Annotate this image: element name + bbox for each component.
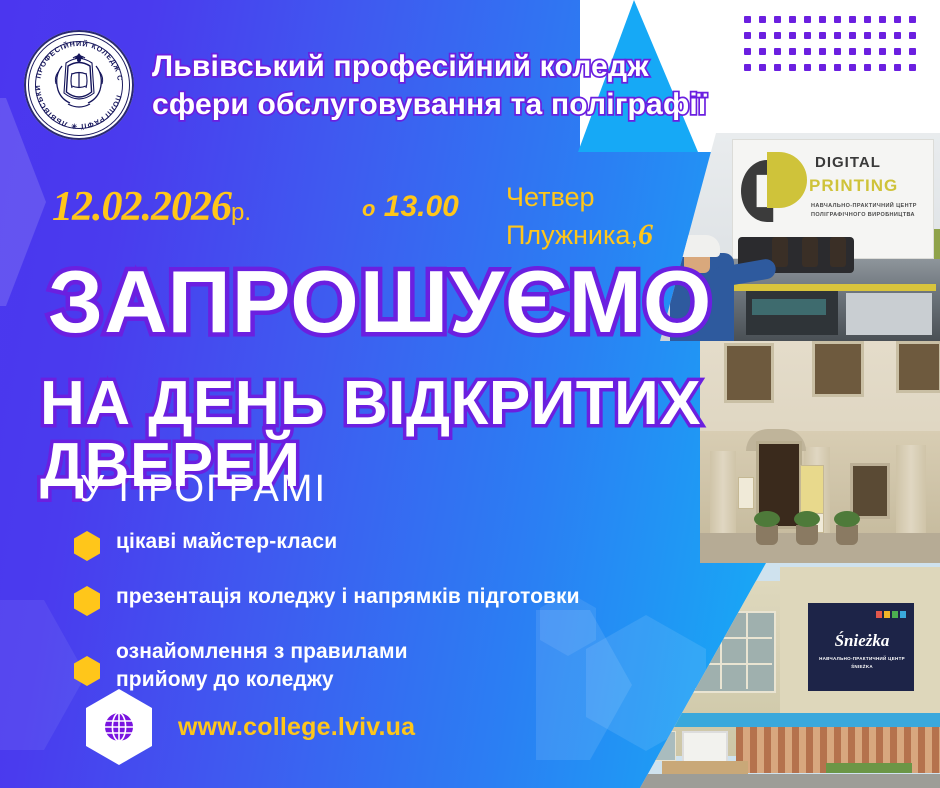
banner-line1: DIGITAL	[815, 154, 881, 171]
banner-subtitle: НАВЧАЛЬНО-ПРАКТИЧНИЙ ЦЕНТР ПОЛІГРАФІЧНОГ…	[811, 202, 929, 221]
college-crest-icon: ПРОФЕСІЙНИЙ КОЛЕДЖ СФЕРИ ОБСЛУГОВУВАННЯ …	[24, 30, 134, 140]
event-place: Четвер Плужника,6	[506, 178, 653, 255]
hexagon-bullet-icon	[74, 531, 100, 561]
program-list: цікаві майстер-класи презентація коледжу…	[74, 528, 704, 693]
banner-line2: PRINTING	[809, 176, 898, 196]
sign-brand-name: Śnieżka	[816, 631, 908, 651]
globe-icon	[86, 689, 152, 765]
event-address-street: Плужника,	[506, 220, 638, 250]
event-date-suffix: р.	[231, 199, 251, 226]
headline-primary: ЗАПРОШУЄМО	[48, 258, 712, 346]
hexagon-bullet-icon	[74, 656, 100, 686]
event-address-number: 6	[638, 218, 653, 251]
printing-logo-accent-icon	[767, 152, 807, 208]
event-address-line: Плужника,6	[506, 216, 653, 254]
institution-title: Львівський професійний коледж сфери обсл…	[152, 48, 812, 124]
institution-title-line2: сфери обслуговування та поліграфії	[152, 86, 812, 124]
event-time-prefix: о	[362, 196, 375, 221]
list-item-label: ознайомлення з правилами прийому до коле…	[116, 638, 408, 693]
event-date: 12.02.2026р.	[52, 183, 251, 231]
sign-subtitle: НАВЧАЛЬНО-ПРАКТИЧНИЙ ЦЕНТР ŚNIEŻKA	[816, 655, 908, 671]
event-weekday: Четвер	[506, 178, 653, 216]
institution-title-line1: Львівський професійний коледж	[152, 48, 812, 86]
list-item: презентація коледжу і напрямків підготов…	[74, 583, 704, 616]
list-item-label: презентація коледжу і напрямків підготов…	[116, 583, 580, 611]
list-item-label: цікаві майстер-класи	[116, 528, 337, 556]
website-url[interactable]: www.college.lviv.ua	[178, 713, 415, 742]
event-time-value: 13.00	[384, 190, 459, 223]
list-item: цікаві майстер-класи	[74, 528, 704, 561]
poster-canvas: DIGITAL PRINTING НАВЧАЛЬНО-ПРАКТИЧНИЙ ЦЕ…	[0, 0, 940, 788]
program-title: У ПРОГРАМІ	[80, 468, 327, 511]
event-date-value: 12.02.2026	[52, 184, 231, 230]
list-item: ознайомлення з правилами прийому до коле…	[74, 638, 704, 693]
website-row[interactable]: www.college.lviv.ua	[86, 689, 415, 765]
hexagon-bullet-icon	[74, 586, 100, 616]
event-time: о 13.00	[362, 190, 459, 224]
